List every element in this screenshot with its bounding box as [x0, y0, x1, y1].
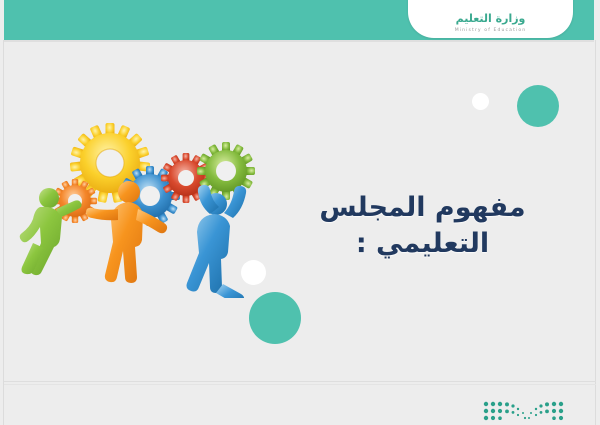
- slide-title-line-2: التعليمي :: [300, 226, 545, 262]
- slide-title: مفهوم المجلس التعليمي :: [300, 190, 545, 262]
- bottom-divider-line-2: [4, 384, 596, 385]
- header-bar-shadow: [4, 40, 594, 42]
- ministry-logo-arabic-text: وزارة التعليم: [456, 13, 526, 25]
- ministry-logo-english-text: Ministry of Education: [455, 27, 527, 34]
- ministry-logo-card: وزارة التعليم Ministry of Education: [408, 0, 573, 38]
- right-frame-line: [595, 40, 596, 425]
- gears-illustration: [18, 108, 268, 298]
- left-frame-line: [3, 40, 4, 425]
- teal-circle-top-right: [517, 85, 559, 127]
- teal-circle-middle: [249, 292, 301, 344]
- bottom-divider-line: [4, 381, 596, 382]
- blue-figure: [187, 185, 247, 298]
- slide-canvas: وزارة التعليم Ministry of Education مفهو…: [0, 0, 600, 425]
- ministry-dot-emblem: [482, 400, 568, 424]
- slide-title-line-1: مفهوم المجلس: [300, 190, 545, 226]
- white-circle-top-right: [472, 93, 489, 110]
